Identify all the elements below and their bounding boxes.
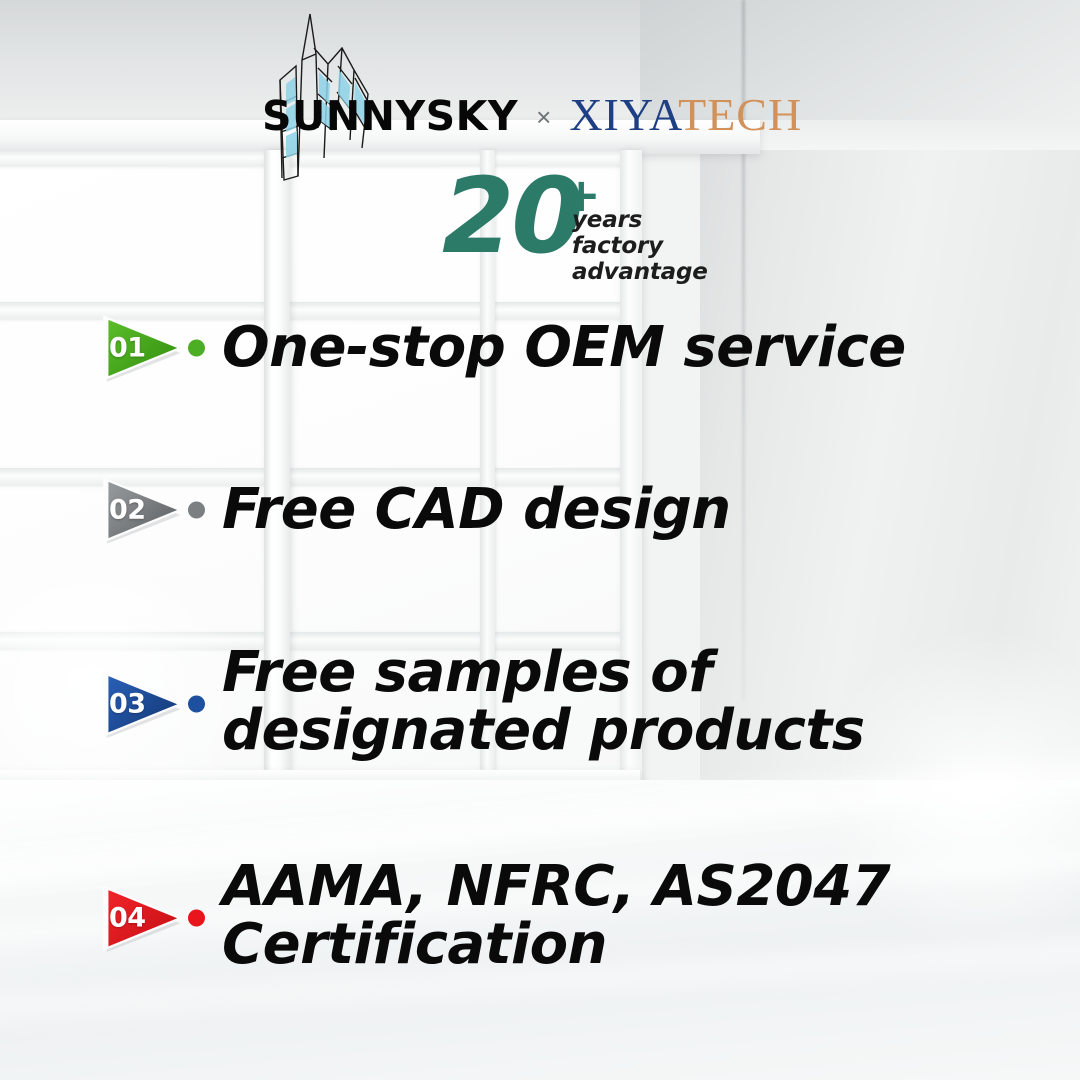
connector-dot-icon xyxy=(188,502,205,519)
step-marker-03: 03 xyxy=(96,660,188,748)
feature-item-04[interactable]: 04 AAMA, NFRC, AS2047 Certification xyxy=(96,862,890,974)
marker-number: 04 xyxy=(109,903,146,934)
feature-item-01[interactable]: 01 One-stop OEM service xyxy=(96,304,906,392)
connector-dot-icon xyxy=(188,910,205,927)
marker-number: 02 xyxy=(109,495,146,526)
feature-item-03[interactable]: 03 Free samples of designated products xyxy=(96,648,865,760)
feature-label: One-stop OEM service xyxy=(222,319,906,377)
connector-dot-icon xyxy=(188,340,205,357)
step-marker-04: 04 xyxy=(96,874,188,962)
feature-label: Free samples of designated products xyxy=(222,644,865,760)
feature-label: Free CAD design xyxy=(222,481,731,539)
feature-list: 01 One-stop OEM service 02 Free CAD desi… xyxy=(0,0,1080,1080)
step-marker-01: 01 xyxy=(96,304,188,392)
promo-poster: SUNNYSKY × XIYATECH 20 + years factory a… xyxy=(0,0,1080,1080)
connector-dot-icon xyxy=(188,696,205,713)
marker-number: 03 xyxy=(109,689,146,720)
step-marker-02: 02 xyxy=(96,466,188,554)
marker-number: 01 xyxy=(109,333,146,364)
feature-label: AAMA, NFRC, AS2047 Certification xyxy=(222,858,890,974)
feature-item-02[interactable]: 02 Free CAD design xyxy=(96,466,731,554)
